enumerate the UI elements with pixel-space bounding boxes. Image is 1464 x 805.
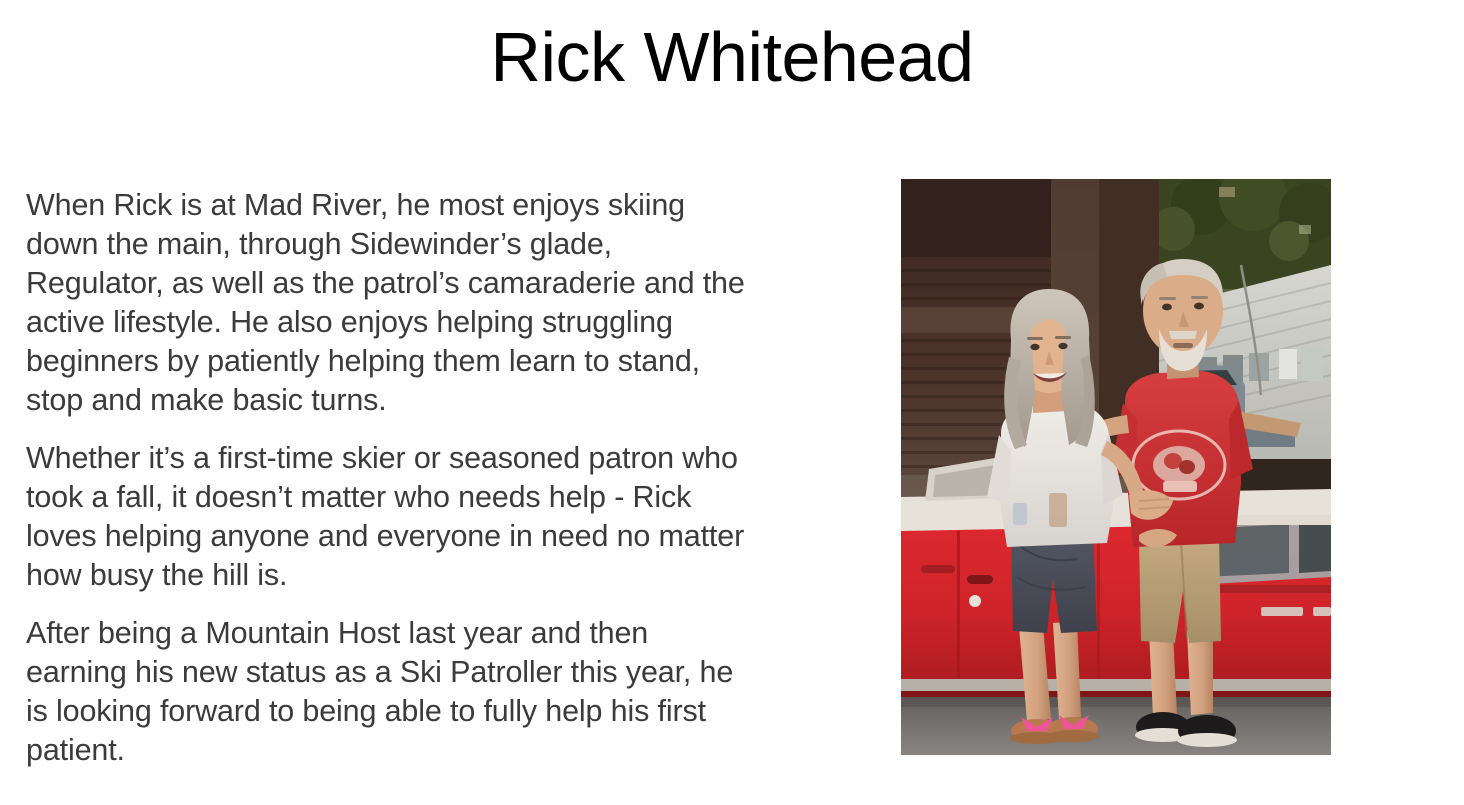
- photo-rick-and-partner: [901, 179, 1331, 755]
- paragraph-3: After being a Mountain Host last year an…: [26, 614, 756, 770]
- paragraph-1: When Rick is at Mad River, he most enjoy…: [26, 186, 756, 420]
- slide-canvas: Rick Whitehead When Rick is at Mad River…: [0, 0, 1464, 805]
- page-title: Rick Whitehead: [0, 14, 1464, 100]
- paragraph-2: Whether it’s a first-time skier or seaso…: [26, 439, 756, 595]
- body-text-block: When Rick is at Mad River, he most enjoy…: [26, 186, 756, 770]
